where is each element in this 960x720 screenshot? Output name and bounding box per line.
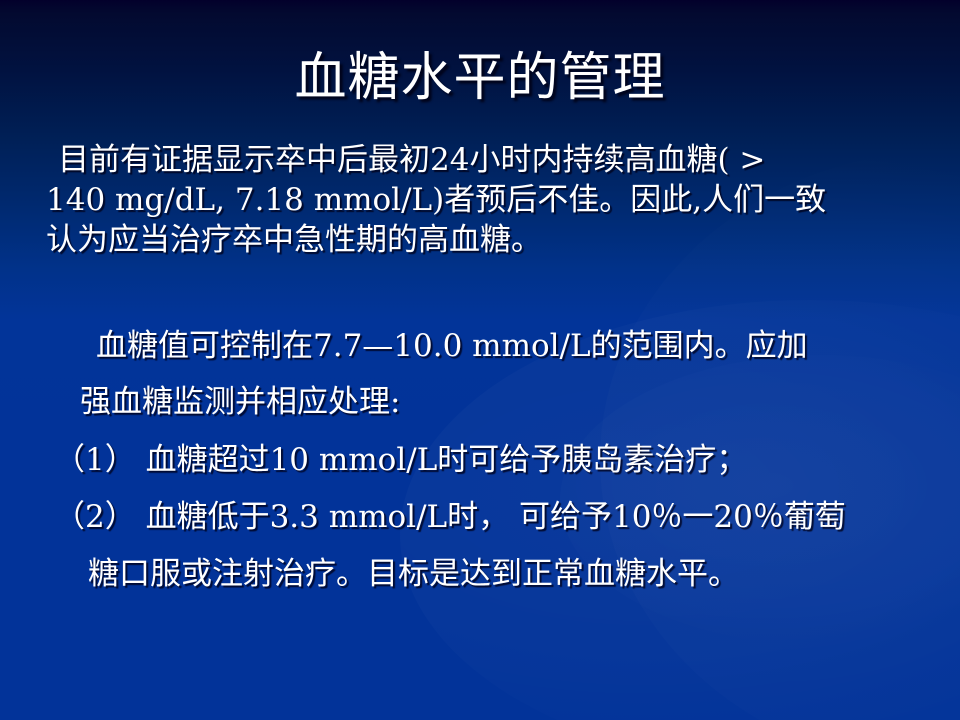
intro-line-2: 140 mg/dL, 7.18 mmol/L)者预后不佳。因此,人们一致 xyxy=(46,180,826,220)
intro-line-1: 目前有证据显示卒中后最初24小时内持续高血糖( > xyxy=(46,140,826,180)
slide-title: 血糖水平的管理 xyxy=(0,48,960,108)
slide-canvas: 血糖水平的管理 目前有证据显示卒中后最初24小时内持续高血糖( > 140 mg… xyxy=(0,0,960,720)
intro-line-3: 认为应当治疗卒中急性期的高血糖。 xyxy=(46,220,826,260)
list-item-1: （1） 血糖超过10 mmol/L时可给予胰岛素治疗； xyxy=(46,432,846,489)
range-line-1: 血糖值可控制在7.7—10.0 mmol/L的范围内。应加 xyxy=(46,318,808,374)
list-item-2-continuation: 糖口服或注射治疗。目标是达到正常血糖水平。 xyxy=(46,546,846,603)
paragraph-intro: 目前有证据显示卒中后最初24小时内持续高血糖( > 140 mg/dL, 7.1… xyxy=(46,140,826,260)
paragraph-target-range: 血糖值可控制在7.7—10.0 mmol/L的范围内。应加 强血糖监测并相应处理… xyxy=(46,318,808,430)
range-line-2: 强血糖监测并相应处理: xyxy=(46,374,808,430)
numbered-item-list: （1） 血糖超过10 mmol/L时可给予胰岛素治疗； （2） 血糖低于3.3 … xyxy=(46,432,846,603)
list-item-2: （2） 血糖低于3.3 mmol/L时， 可给予10％一20％葡萄 xyxy=(46,489,846,546)
